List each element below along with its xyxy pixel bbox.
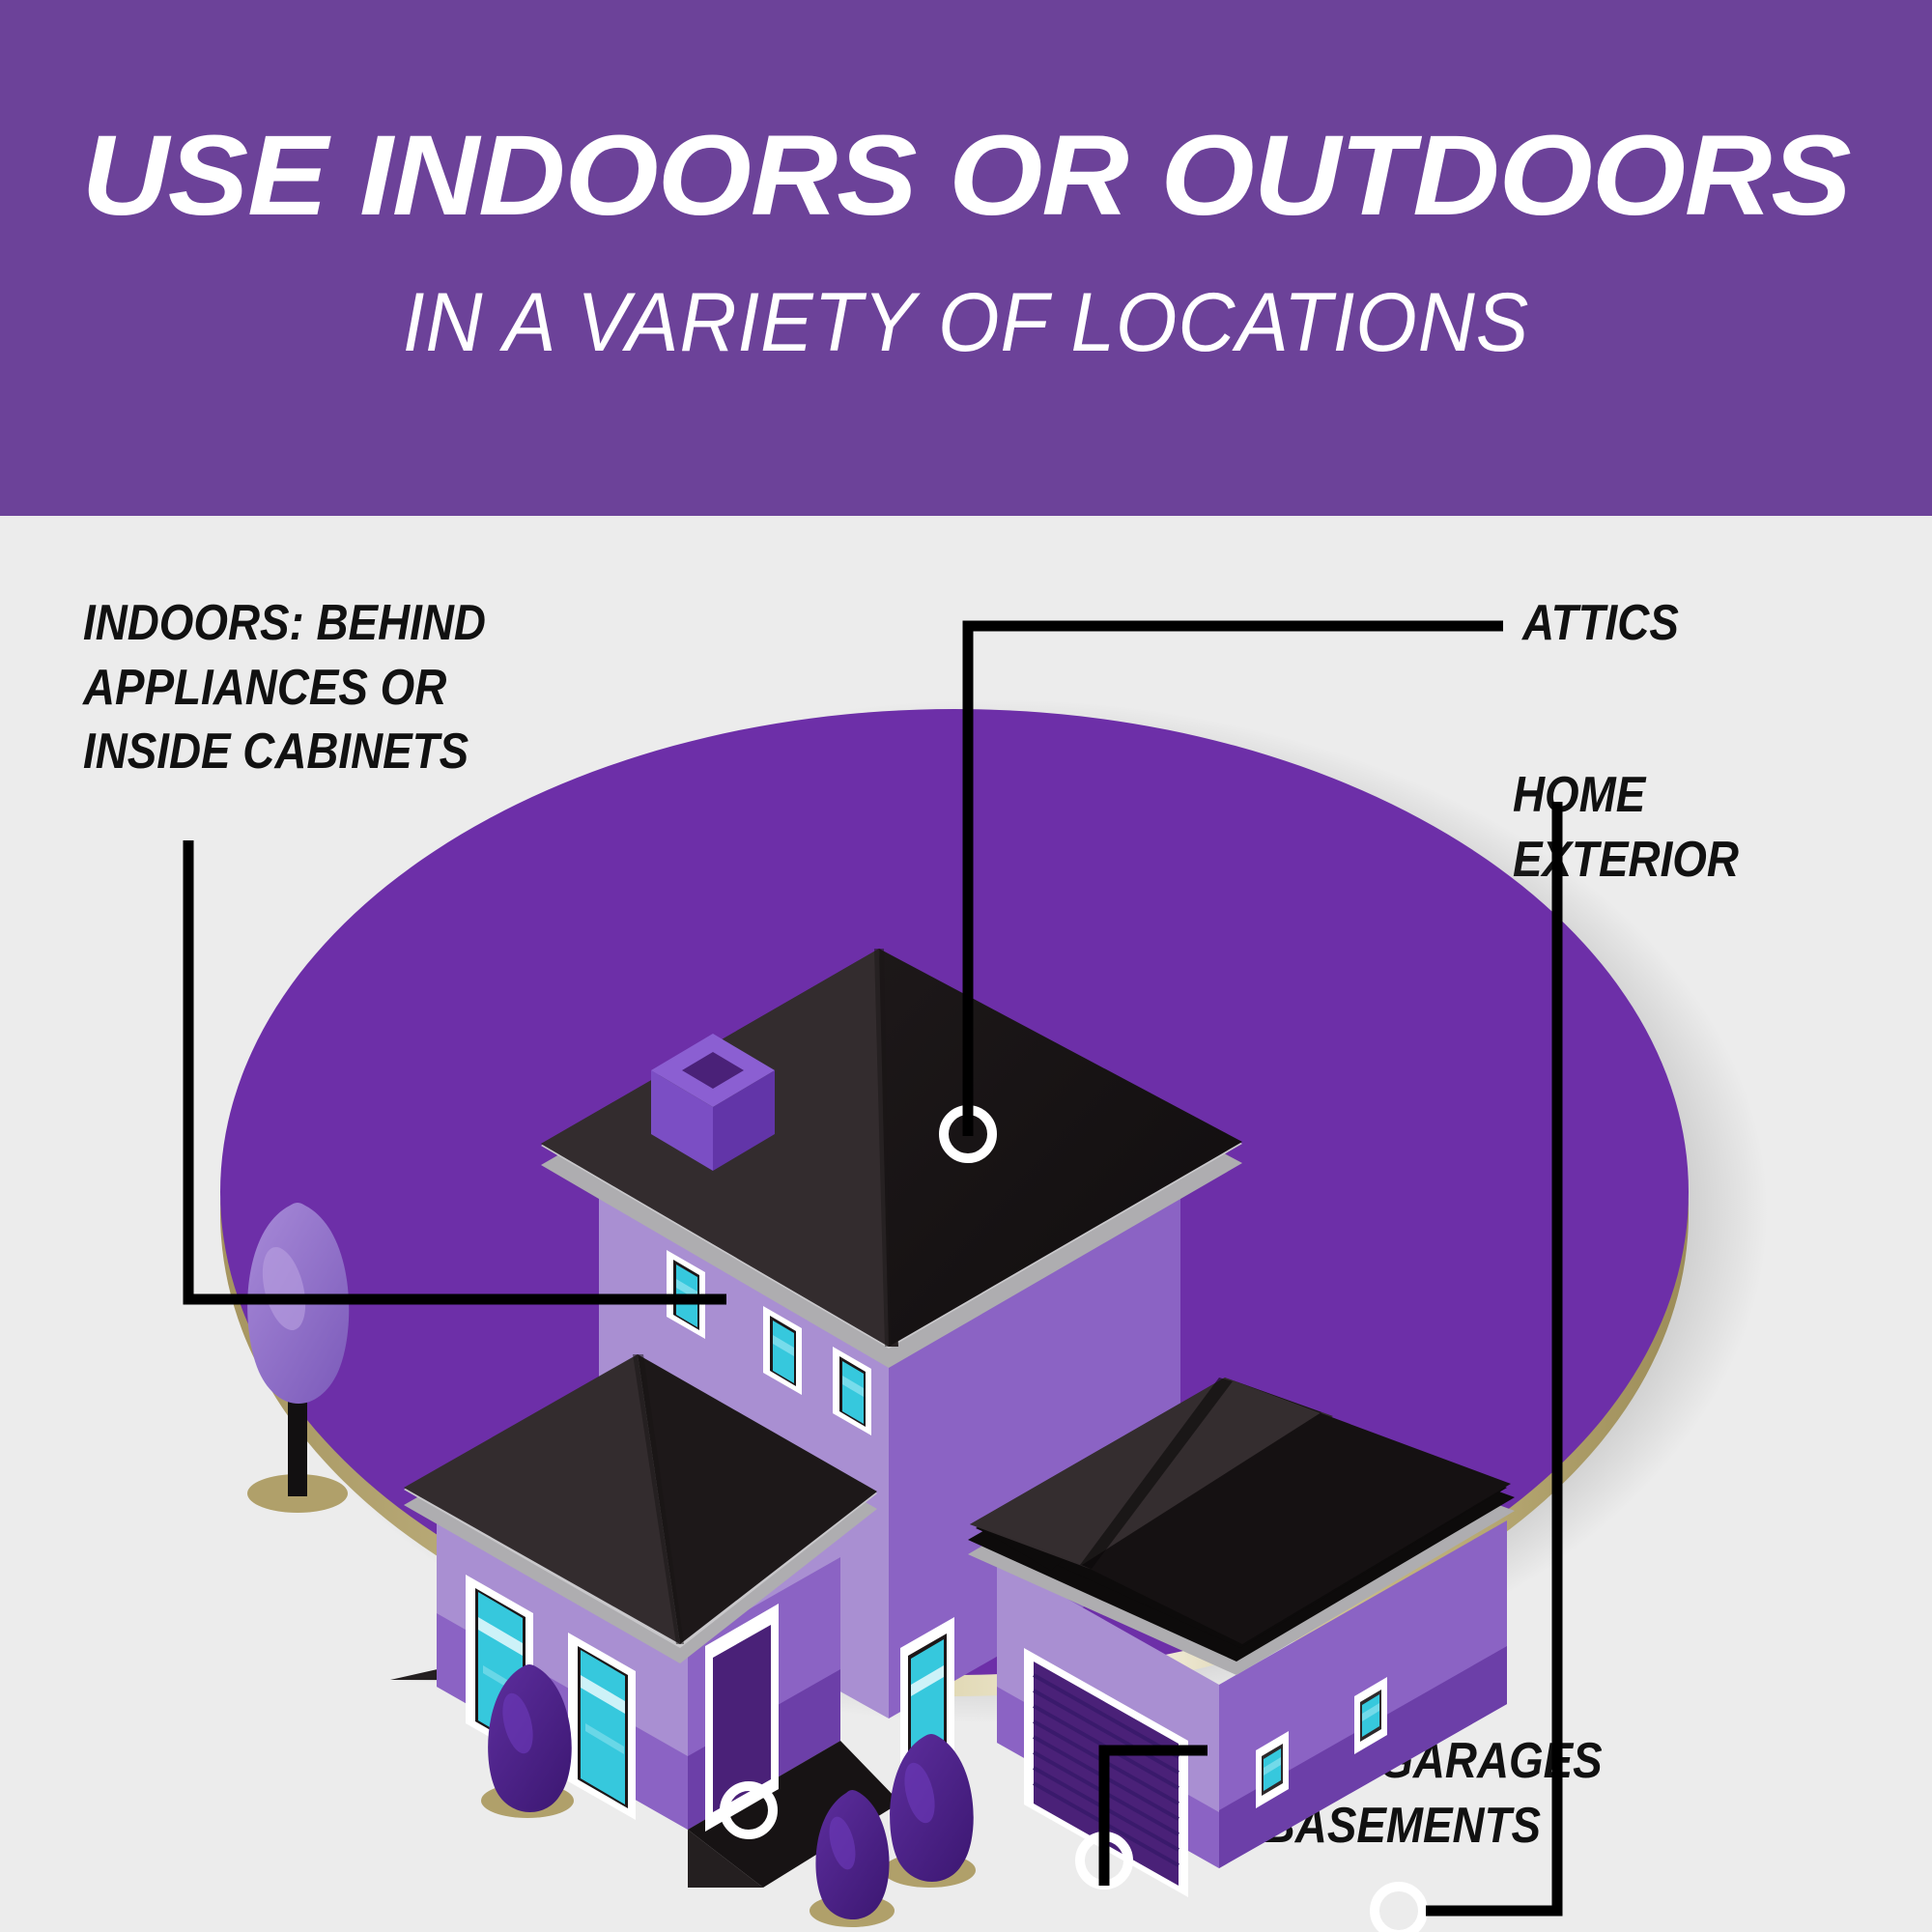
- header-band: USE INDOORS OR OUTDOORS IN A VARIETY OF …: [0, 0, 1932, 516]
- page-subtitle: IN A VARIETY OF LOCATIONS: [48, 275, 1884, 371]
- exterior-wall-marker: [1375, 1887, 1423, 1932]
- tree-mid: [883, 1734, 976, 1888]
- infographic-page: USE INDOORS OR OUTDOORS IN A VARIETY OF …: [0, 0, 1932, 1932]
- house-illustration: [0, 516, 1932, 1932]
- page-title: USE INDOORS OR OUTDOORS: [0, 118, 1932, 234]
